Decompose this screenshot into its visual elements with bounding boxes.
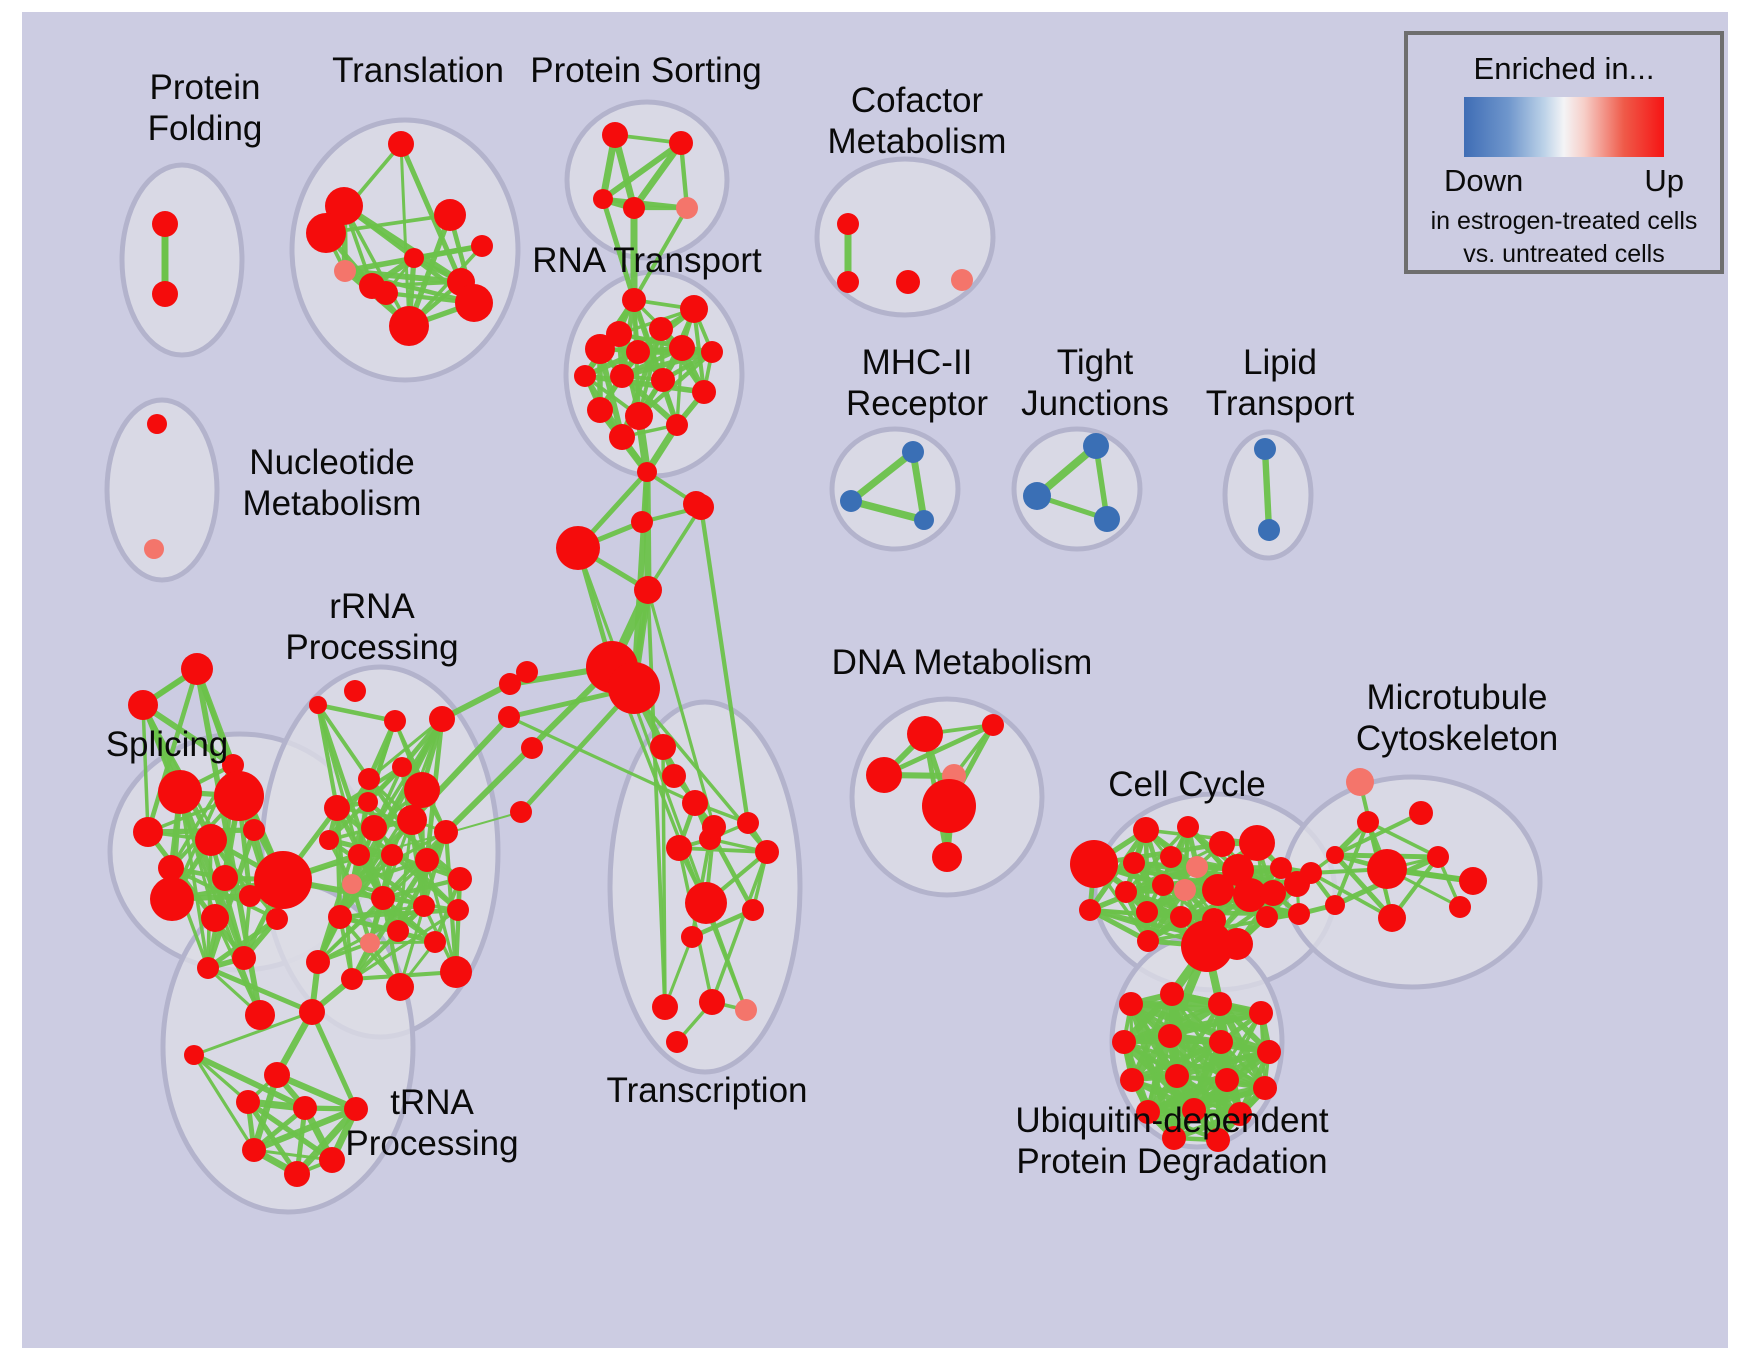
- network-node[interactable]: [152, 211, 178, 237]
- network-node[interactable]: [602, 122, 628, 148]
- network-node[interactable]: [669, 131, 693, 155]
- network-node[interactable]: [341, 968, 363, 990]
- network-node[interactable]: [902, 441, 924, 463]
- cluster-label-mhc2_receptor: MHC-II Receptor: [822, 342, 1012, 424]
- network-node[interactable]: [197, 957, 219, 979]
- network-node[interactable]: [1137, 930, 1159, 952]
- network-node[interactable]: [1325, 895, 1345, 915]
- network-node[interactable]: [415, 848, 439, 872]
- network-node[interactable]: [1174, 879, 1196, 901]
- network-node[interactable]: [344, 680, 366, 702]
- cluster-hull-protein_folding: [122, 165, 242, 355]
- network-node[interactable]: [608, 662, 660, 714]
- network-node[interactable]: [413, 895, 435, 917]
- network-node[interactable]: [625, 402, 653, 430]
- network-node[interactable]: [359, 273, 385, 299]
- network-node[interactable]: [1165, 1064, 1189, 1088]
- network-node[interactable]: [896, 270, 920, 294]
- network-node[interactable]: [306, 950, 330, 974]
- network-node[interactable]: [866, 757, 902, 793]
- network-node[interactable]: [1158, 1024, 1182, 1048]
- network-node[interactable]: [319, 830, 339, 850]
- network-node[interactable]: [236, 1090, 260, 1114]
- network-node[interactable]: [1257, 1040, 1281, 1064]
- network-node[interactable]: [195, 824, 227, 856]
- network-node[interactable]: [685, 882, 727, 924]
- cluster-label-ubiquitin_degradation: Ubiquitin-dependent Protein Degradation: [997, 1100, 1347, 1182]
- network-node[interactable]: [1070, 840, 1118, 888]
- network-node[interactable]: [1160, 982, 1184, 1006]
- network-node[interactable]: [1357, 811, 1379, 833]
- cluster-label-translation: Translation: [303, 50, 533, 91]
- network-node[interactable]: [1409, 801, 1433, 825]
- network-node[interactable]: [637, 462, 657, 482]
- network-node[interactable]: [184, 1045, 204, 1065]
- network-node[interactable]: [128, 690, 158, 720]
- cluster-label-lipid_transport: Lipid Transport: [1185, 342, 1375, 424]
- network-node[interactable]: [1256, 906, 1278, 928]
- network-node[interactable]: [381, 844, 403, 866]
- network-node[interactable]: [387, 920, 409, 942]
- cluster-label-protein_sorting: Protein Sorting: [521, 50, 771, 91]
- network-node[interactable]: [201, 904, 229, 932]
- network-node[interactable]: [1112, 1030, 1136, 1054]
- network-node[interactable]: [1136, 901, 1158, 923]
- network-node[interactable]: [358, 792, 378, 812]
- network-node[interactable]: [371, 886, 395, 910]
- network-node[interactable]: [755, 840, 779, 864]
- network-node[interactable]: [932, 842, 962, 872]
- network-node[interactable]: [662, 764, 686, 788]
- network-node[interactable]: [299, 999, 325, 1025]
- network-node[interactable]: [147, 414, 167, 434]
- network-node[interactable]: [309, 696, 327, 714]
- legend-panel: Enriched in... Down Up in estrogen-treat…: [1404, 31, 1724, 274]
- network-node[interactable]: [556, 526, 600, 570]
- network-node[interactable]: [440, 956, 472, 988]
- network-node[interactable]: [735, 999, 757, 1021]
- network-node[interactable]: [1288, 903, 1310, 925]
- cluster-label-cell_cycle: Cell Cycle: [1072, 764, 1302, 805]
- cluster-label-transcription: Transcription: [587, 1070, 827, 1111]
- network-node[interactable]: [1208, 992, 1232, 1016]
- network-node[interactable]: [622, 288, 646, 312]
- network-node[interactable]: [360, 933, 380, 953]
- network-node[interactable]: [702, 815, 726, 839]
- network-node[interactable]: [1209, 831, 1235, 857]
- network-node[interactable]: [701, 341, 723, 363]
- network-node[interactable]: [266, 908, 288, 930]
- cluster-label-rna_transport: RNA Transport: [522, 240, 772, 281]
- network-node[interactable]: [1367, 849, 1407, 889]
- network-node[interactable]: [1378, 904, 1406, 932]
- network-node[interactable]: [158, 770, 202, 814]
- network-node[interactable]: [389, 306, 429, 346]
- network-node[interactable]: [1202, 874, 1234, 906]
- network-node[interactable]: [1260, 880, 1286, 906]
- network-node[interactable]: [434, 820, 458, 844]
- network-node[interactable]: [1449, 896, 1471, 918]
- cluster-label-cofactor_metabolism: Cofactor Metabolism: [802, 80, 1032, 162]
- network-node[interactable]: [152, 281, 178, 307]
- cluster-hull-protein_sorting: [567, 102, 727, 258]
- network-node[interactable]: [623, 197, 645, 219]
- network-node[interactable]: [1170, 906, 1192, 928]
- network-node[interactable]: [666, 414, 688, 436]
- network-node[interactable]: [837, 271, 859, 293]
- network-node[interactable]: [150, 877, 194, 921]
- figure-canvas: Protein FoldingTranslationNucleotide Met…: [0, 0, 1750, 1360]
- network-node[interactable]: [683, 491, 709, 517]
- network-node[interactable]: [1120, 1068, 1144, 1092]
- network-node[interactable]: [650, 734, 676, 760]
- network-node[interactable]: [392, 757, 412, 777]
- network-node[interactable]: [626, 340, 650, 364]
- network-node[interactable]: [242, 1138, 266, 1162]
- network-node[interactable]: [424, 931, 446, 953]
- network-node[interactable]: [434, 199, 466, 231]
- network-node[interactable]: [264, 1062, 290, 1088]
- network-node[interactable]: [652, 994, 678, 1020]
- network-node[interactable]: [133, 817, 163, 847]
- network-node[interactable]: [324, 795, 350, 821]
- network-node[interactable]: [1115, 881, 1137, 903]
- network-node[interactable]: [593, 189, 613, 209]
- network-node[interactable]: [404, 772, 440, 808]
- network-node[interactable]: [144, 539, 164, 559]
- network-node[interactable]: [328, 905, 352, 929]
- network-node[interactable]: [510, 801, 532, 823]
- network-node[interactable]: [361, 815, 387, 841]
- network-node[interactable]: [982, 714, 1004, 736]
- network-node[interactable]: [1221, 928, 1253, 960]
- network-node[interactable]: [334, 260, 356, 282]
- network-node[interactable]: [293, 1096, 317, 1120]
- network-node[interactable]: [669, 335, 695, 361]
- network-node[interactable]: [1258, 519, 1280, 541]
- network-node[interactable]: [1119, 992, 1143, 1016]
- network-node[interactable]: [680, 295, 708, 323]
- cluster-label-protein_folding: Protein Folding: [110, 67, 300, 149]
- network-node[interactable]: [516, 661, 538, 683]
- network-node[interactable]: [907, 716, 943, 752]
- network-node[interactable]: [1160, 846, 1182, 868]
- network-node[interactable]: [243, 819, 265, 841]
- cluster-label-rrna_processing: rRNA Processing: [262, 586, 482, 668]
- network-node[interactable]: [448, 867, 472, 891]
- network-node[interactable]: [348, 844, 370, 866]
- network-node[interactable]: [631, 511, 653, 533]
- network-node[interactable]: [742, 899, 764, 921]
- network-node[interactable]: [455, 284, 493, 322]
- network-node[interactable]: [951, 269, 973, 291]
- network-node[interactable]: [447, 899, 469, 921]
- network-node[interactable]: [1133, 817, 1159, 843]
- network-node[interactable]: [254, 851, 312, 909]
- legend-title: Enriched in...: [1408, 51, 1720, 87]
- network-node[interactable]: [1123, 852, 1145, 874]
- network-node[interactable]: [1215, 1068, 1239, 1092]
- network-node[interactable]: [1427, 846, 1449, 868]
- network-edge: [1265, 449, 1269, 530]
- network-node[interactable]: [1094, 506, 1120, 532]
- network-node[interactable]: [1459, 867, 1487, 895]
- network-node[interactable]: [609, 424, 635, 450]
- cluster-label-tight_junctions: Tight Junctions: [1000, 342, 1190, 424]
- network-edge: [663, 747, 665, 1007]
- network-node[interactable]: [181, 653, 213, 685]
- network-node[interactable]: [676, 197, 698, 219]
- legend-subtitle-line2: vs. untreated cells: [1408, 240, 1720, 269]
- network-node[interactable]: [1300, 862, 1322, 884]
- network-node[interactable]: [634, 576, 662, 604]
- legend-up-label: Up: [1644, 163, 1684, 199]
- network-node[interactable]: [404, 248, 424, 268]
- network-node[interactable]: [384, 710, 406, 732]
- network-node[interactable]: [1249, 1001, 1273, 1025]
- network-node[interactable]: [1253, 1076, 1277, 1100]
- network-node[interactable]: [1177, 816, 1199, 838]
- network-node[interactable]: [1346, 768, 1374, 796]
- network-node[interactable]: [692, 380, 716, 404]
- network-node[interactable]: [214, 771, 264, 821]
- network-node[interactable]: [922, 779, 976, 833]
- network-node[interactable]: [649, 317, 673, 341]
- network-node[interactable]: [1186, 856, 1208, 878]
- network-node[interactable]: [666, 835, 692, 861]
- network-node[interactable]: [521, 737, 543, 759]
- network-node[interactable]: [737, 812, 759, 834]
- network-node[interactable]: [284, 1161, 310, 1187]
- cluster-label-nucleotide_metabolism: Nucleotide Metabolism: [207, 442, 457, 524]
- cluster-label-microtubule_cytoskeleton: Microtubule Cytoskeleton: [1312, 677, 1602, 759]
- network-node[interactable]: [610, 364, 634, 388]
- network-node[interactable]: [212, 865, 238, 891]
- network-node[interactable]: [429, 706, 455, 732]
- network-node[interactable]: [574, 365, 596, 387]
- network-node[interactable]: [342, 874, 362, 894]
- network-node[interactable]: [388, 131, 414, 157]
- network-node[interactable]: [386, 973, 414, 1001]
- network-node[interactable]: [1083, 433, 1109, 459]
- network-node[interactable]: [245, 1000, 275, 1030]
- network-node[interactable]: [358, 768, 380, 790]
- legend-subtitle-line1: in estrogen-treated cells: [1408, 207, 1720, 236]
- network-node[interactable]: [666, 1031, 688, 1053]
- network-node[interactable]: [681, 926, 703, 948]
- network-node[interactable]: [471, 235, 493, 257]
- network-node[interactable]: [498, 706, 520, 728]
- network-node[interactable]: [840, 490, 862, 512]
- network-node[interactable]: [651, 368, 675, 392]
- network-node[interactable]: [585, 334, 615, 364]
- network-node[interactable]: [1023, 482, 1051, 510]
- network-node[interactable]: [397, 805, 427, 835]
- legend-colorbar: [1464, 97, 1664, 157]
- network-node[interactable]: [232, 946, 256, 970]
- network-node[interactable]: [837, 213, 859, 235]
- cluster-label-dna_metabolism: DNA Metabolism: [822, 642, 1102, 683]
- network-node[interactable]: [306, 213, 346, 253]
- network-node[interactable]: [1209, 1030, 1233, 1054]
- legend-down-label: Down: [1444, 163, 1523, 199]
- network-node[interactable]: [1254, 438, 1276, 460]
- network-node[interactable]: [682, 790, 708, 816]
- network-node[interactable]: [1326, 846, 1344, 864]
- network-node[interactable]: [587, 397, 613, 423]
- network-node[interactable]: [1152, 874, 1174, 896]
- network-node[interactable]: [1079, 899, 1101, 921]
- network-node[interactable]: [699, 989, 725, 1015]
- network-node[interactable]: [914, 510, 934, 530]
- cluster-label-trna_processing: tRNA Processing: [322, 1082, 542, 1164]
- cluster-label-splicing: Splicing: [72, 724, 262, 765]
- cluster-hull-mhc2_receptor: [832, 429, 958, 549]
